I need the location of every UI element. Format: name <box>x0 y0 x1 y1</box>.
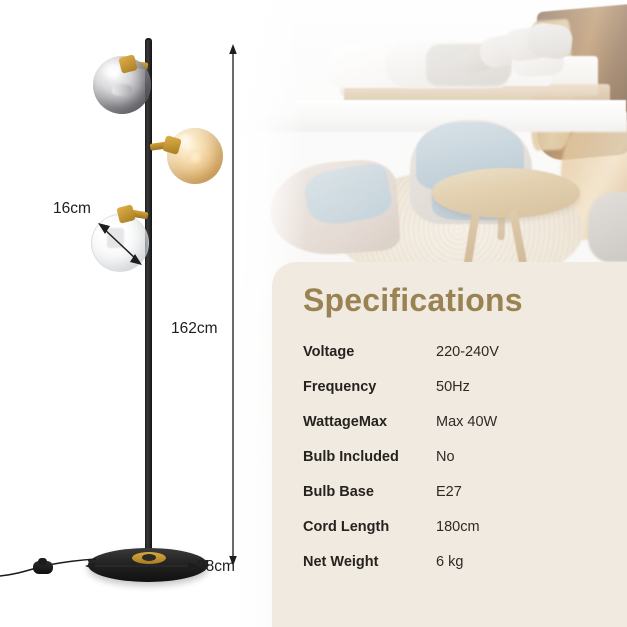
height-dimension-label: 162cm <box>171 320 218 338</box>
specifications-table: Voltage 220-240V Frequency 50Hz WattageM… <box>303 344 603 589</box>
specifications-panel: Specifications Voltage 220-240V Frequenc… <box>272 262 627 627</box>
spec-label: Bulb Included <box>303 449 436 465</box>
spec-value: E27 <box>436 484 462 500</box>
spec-label: WattageMax <box>303 414 436 430</box>
spec-row: Bulb Included No <box>303 449 603 484</box>
globe-filament <box>112 84 132 96</box>
spec-row: Frequency 50Hz <box>303 379 603 414</box>
spec-row: WattageMax Max 40W <box>303 414 603 449</box>
globe-filament <box>188 150 202 164</box>
spec-label: Voltage <box>303 344 436 360</box>
spec-value: 180cm <box>436 519 480 535</box>
lamp-pole <box>145 40 152 560</box>
spec-label: Cord Length <box>303 519 436 535</box>
spec-label: Frequency <box>303 379 436 395</box>
foot-switch-button[interactable] <box>38 558 47 565</box>
base-dimension-label: 28cm <box>197 558 235 576</box>
spec-row: Bulb Base E27 <box>303 484 603 519</box>
spec-row: Cord Length 180cm <box>303 519 603 554</box>
spec-label: Net Weight <box>303 554 436 570</box>
specifications-title: Specifications <box>303 282 523 319</box>
spec-value: 50Hz <box>436 379 470 395</box>
spec-row: Voltage 220-240V <box>303 344 603 379</box>
spec-label: Bulb Base <box>303 484 436 500</box>
globe-filament <box>107 228 124 248</box>
shade-dimension-label: 16cm <box>53 200 91 218</box>
spec-value: 220-240V <box>436 344 499 360</box>
spec-value: 6 kg <box>436 554 463 570</box>
spec-value: Max 40W <box>436 414 497 430</box>
floor-lamp <box>0 0 250 627</box>
lamp-base-ring-inner <box>142 554 156 561</box>
spec-row: Net Weight 6 kg <box>303 554 603 589</box>
product-spec-image: 162cm 16cm 28cm Specifications Voltage 2… <box>0 0 627 627</box>
spec-value: No <box>436 449 455 465</box>
